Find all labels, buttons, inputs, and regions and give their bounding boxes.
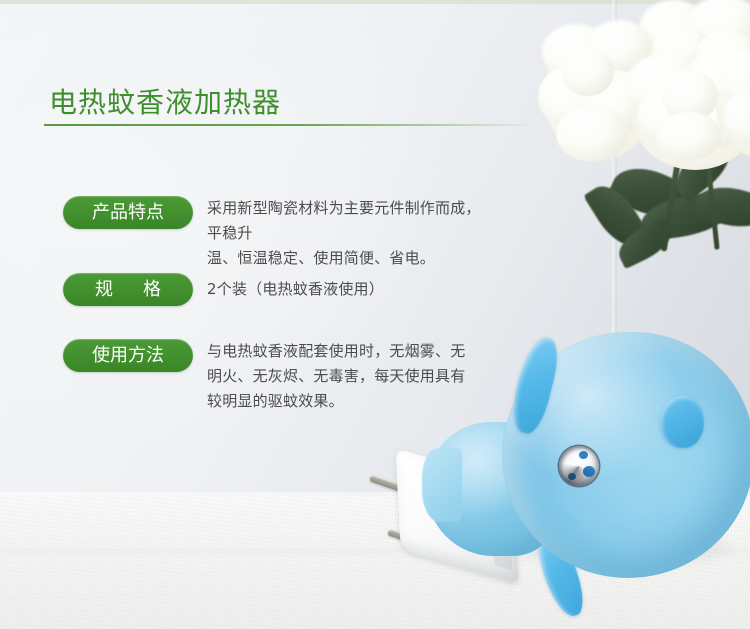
spec-list: 产品特点 采用新型陶瓷材料为主要元件制作而成，平稳升 温、恒温稳定、使用简便、省… [0, 0, 750, 629]
spec-label-char-left: 规 [95, 279, 113, 300]
spec-value-specification: 2个装（电热蚊香液使用） [207, 273, 384, 306]
product-detail-image: 电热蚊香液加热器 产品特点 采用新型陶瓷材料为主要元件制作而成，平稳升 温、恒温… [0, 0, 750, 629]
spec-label-char-right: 格 [143, 279, 161, 300]
spec-value-line: 明火、无灰烬、无毒害，每天使用具有 [207, 364, 465, 389]
spec-label-usage: 使用方法 [63, 339, 193, 372]
spec-value-usage: 与电热蚊香液配套使用时，无烟雾、无 明火、无灰烬、无毒害，每天使用具有 较明显的… [207, 339, 465, 414]
spec-row-specification: 规格 2个装（电热蚊香液使用） [63, 273, 384, 306]
spec-row-usage: 使用方法 与电热蚊香液配套使用时，无烟雾、无 明火、无灰烬、无毒害，每天使用具有… [63, 339, 465, 414]
spec-value-line: 温、恒温稳定、使用简便、省电。 [207, 246, 482, 271]
spec-value-line: 较明显的驱蚊效果。 [207, 389, 465, 414]
spec-label-specification: 规格 [63, 273, 193, 306]
spec-row-product-features: 产品特点 采用新型陶瓷材料为主要元件制作而成，平稳升 温、恒温稳定、使用简便、省… [63, 196, 482, 271]
spec-value-line: 与电热蚊香液配套使用时，无烟雾、无 [207, 339, 465, 364]
spec-value-line: 采用新型陶瓷材料为主要元件制作而成，平稳升 [207, 196, 482, 246]
spec-label-product-features: 产品特点 [63, 196, 193, 229]
spec-value-product-features: 采用新型陶瓷材料为主要元件制作而成，平稳升 温、恒温稳定、使用简便、省电。 [207, 196, 482, 271]
